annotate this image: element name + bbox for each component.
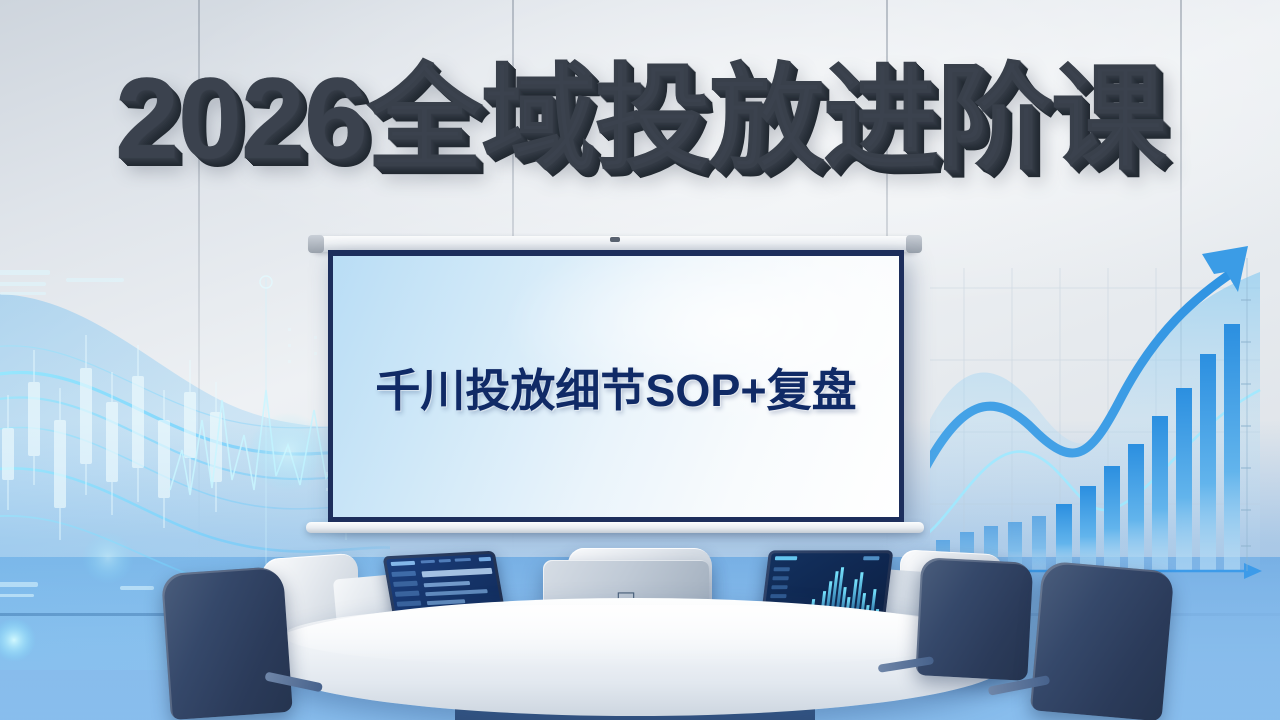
page-title: 2026全域投放进阶课 (0, 62, 1280, 177)
chair-back-right (915, 557, 1034, 695)
projector-screen-bottom-bar (306, 522, 924, 533)
projector-screen-text: 千川投放细节SOP+复盘 (375, 354, 856, 419)
chair-front-right (1030, 561, 1175, 720)
chair-front-left (161, 566, 293, 720)
projector-screen-frame: 千川投放细节SOP+复盘 (328, 250, 904, 522)
projector-housing-knob (610, 237, 620, 242)
projector-screen-surface: 千川投放细节SOP+复盘 (333, 256, 899, 517)
round-conference-table (262, 598, 1008, 716)
poster-canvas: 2026全域投放进阶课 千川投放细节SOP+复盘 (0, 0, 1280, 720)
